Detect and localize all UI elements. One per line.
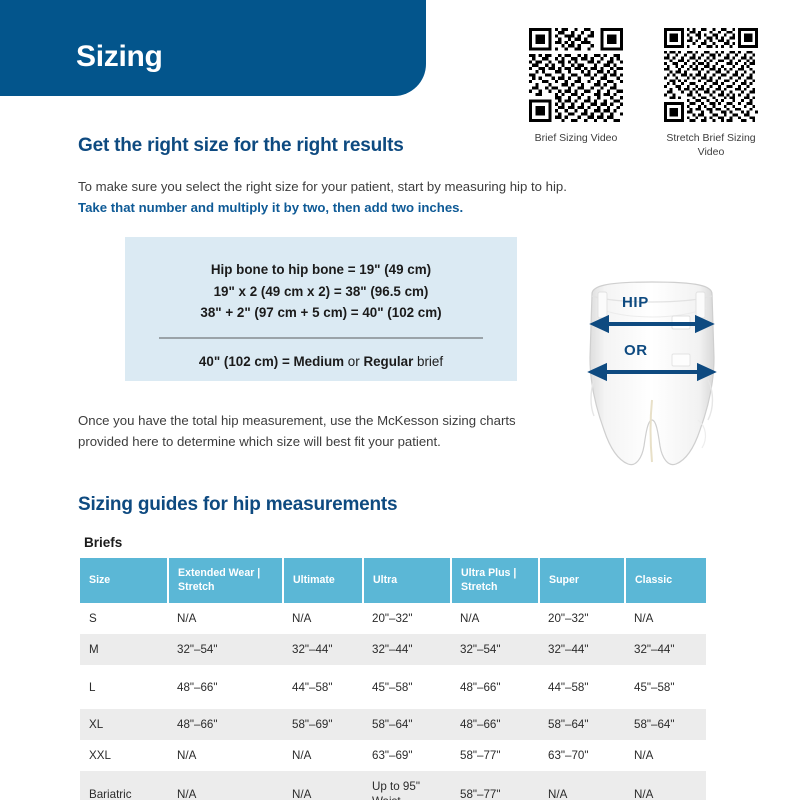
calc-result-size-medium: Medium — [293, 354, 344, 369]
column-header-extended-wear-stretch: Extended Wear | Stretch — [168, 558, 283, 603]
cell-ultra: 45"–58" — [363, 665, 451, 709]
cell-ultra: Up to 95" Waist — [363, 771, 451, 800]
header-banner: Sizing — [0, 0, 426, 96]
column-header-size: Size — [80, 558, 168, 603]
cell-super: 44"–58" — [539, 665, 625, 709]
cell-classic: N/A — [625, 740, 706, 771]
cell-size: L — [80, 665, 168, 709]
calc-divider — [159, 337, 483, 339]
cell-ultra-plus-stretch: 48"–66" — [451, 709, 539, 740]
table-row: XL 48"–66" 58"–69" 58"–64" 48"–66" 58"–6… — [80, 709, 706, 740]
page-title: Sizing — [76, 40, 163, 74]
table-label-briefs: Briefs — [84, 535, 122, 550]
calc-line: 19" x 2 (49 cm x 2) = 38" (96.5 cm) — [125, 281, 517, 303]
cell-ultra-plus-stretch: N/A — [451, 603, 539, 634]
cell-size: M — [80, 634, 168, 665]
cell-super: 20"–32" — [539, 603, 625, 634]
table-row: XXL N/A N/A 63"–69" 58"–77" 63"–70" N/A — [80, 740, 706, 771]
calculation-box: Hip bone to hip bone = 19" (49 cm) 19" x… — [125, 237, 517, 381]
table-row: Bariatric N/A N/A Up to 95" Waist 58"–77… — [80, 771, 706, 800]
table-row: L 48"–66" 44"–58" 45"–58" 48"–66" 44"–58… — [80, 665, 706, 709]
cell-super: 32"–44" — [539, 634, 625, 665]
intro-paragraph: To make sure you select the right size f… — [78, 176, 578, 219]
cell-ultimate: 58"–69" — [283, 709, 363, 740]
cell-ultra: 20"–32" — [363, 603, 451, 634]
intro-text-emphasis: Take that number and multiply it by two,… — [78, 200, 463, 215]
calc-line: Hip bone to hip bone = 19" (49 cm) — [125, 259, 517, 281]
calculation-lines: Hip bone to hip bone = 19" (49 cm) 19" x… — [125, 237, 517, 324]
product-label-hip: HIP — [622, 294, 649, 311]
column-header-ultra: Ultra — [363, 558, 451, 603]
cell-ultra: 58"–64" — [363, 709, 451, 740]
cell-classic: 45"–58" — [625, 665, 706, 709]
cell-extended-wear-stretch: 48"–66" — [168, 665, 283, 709]
table-body: S N/A N/A 20"–32" N/A 20"–32" N/A M 32"–… — [80, 603, 706, 800]
cell-ultra: 32"–44" — [363, 634, 451, 665]
cell-size: S — [80, 603, 168, 634]
cell-classic: N/A — [625, 603, 706, 634]
cell-ultimate: N/A — [283, 740, 363, 771]
table-row: S N/A N/A 20"–32" N/A 20"–32" N/A — [80, 603, 706, 634]
column-header-ultra-plus-stretch: Ultra Plus | Stretch — [451, 558, 539, 603]
cell-size: Bariatric — [80, 771, 168, 800]
cell-super: 63"–70" — [539, 740, 625, 771]
cell-extended-wear-stretch: 48"–66" — [168, 709, 283, 740]
cell-classic: N/A — [625, 771, 706, 800]
calc-result-lead: 40" (102 cm) = — [199, 354, 294, 369]
qr-caption: Stretch Brief Sizing Video — [661, 131, 761, 159]
cell-ultra: 63"–69" — [363, 740, 451, 771]
cell-extended-wear-stretch: N/A — [168, 603, 283, 634]
cell-ultimate: 32"–44" — [283, 634, 363, 665]
cell-super: 58"–64" — [539, 709, 625, 740]
qr-code-icon[interactable] — [529, 28, 623, 122]
cell-ultra-plus-stretch: 58"–77" — [451, 740, 539, 771]
table-row: M 32"–54" 32"–44" 32"–44" 32"–54" 32"–44… — [80, 634, 706, 665]
table-header: Size Extended Wear | Stretch Ultimate Ul… — [80, 558, 706, 603]
cell-extended-wear-stretch: 32"–54" — [168, 634, 283, 665]
calc-line: 38" + 2" (97 cm + 5 cm) = 40" (102 cm) — [125, 302, 517, 324]
qr-block-brief-sizing-video[interactable]: Brief Sizing Video — [529, 28, 626, 145]
column-header-ultimate: Ultimate — [283, 558, 363, 603]
cell-super: N/A — [539, 771, 625, 800]
calc-result-tail: brief — [413, 354, 443, 369]
column-header-super: Super — [539, 558, 625, 603]
qr-block-stretch-brief-sizing-video[interactable]: Stretch Brief Sizing Video — [664, 28, 761, 159]
calc-result-size-regular: Regular — [363, 354, 413, 369]
cell-size: XL — [80, 709, 168, 740]
table-header-row: Size Extended Wear | Stretch Ultimate Ul… — [80, 558, 706, 603]
sizing-guide-page: Sizing — [0, 0, 800, 800]
closing-paragraph: Once you have the total hip measurement,… — [78, 410, 558, 453]
section-heading-right-size: Get the right size for the right results — [78, 135, 404, 157]
sizing-table-briefs: Size Extended Wear | Stretch Ultimate Ul… — [80, 558, 706, 800]
cell-classic: 58"–64" — [625, 709, 706, 740]
cell-ultimate: 44"–58" — [283, 665, 363, 709]
brief-product-icon — [568, 280, 736, 470]
qr-caption: Brief Sizing Video — [526, 131, 626, 145]
intro-text-normal: To make sure you select the right size f… — [78, 179, 567, 194]
cell-extended-wear-stretch: N/A — [168, 740, 283, 771]
calc-result-joiner: or — [344, 354, 363, 369]
cell-classic: 32"–44" — [625, 634, 706, 665]
cell-ultra-plus-stretch: 48"–66" — [451, 665, 539, 709]
qr-code-icon[interactable] — [664, 28, 758, 122]
product-illustration: HIP OR — [568, 280, 736, 470]
cell-ultra-plus-stretch: 58"–77" — [451, 771, 539, 800]
cell-size: XXL — [80, 740, 168, 771]
cell-extended-wear-stretch: N/A — [168, 771, 283, 800]
cell-ultra-plus-stretch: 32"–54" — [451, 634, 539, 665]
cell-ultimate: N/A — [283, 771, 363, 800]
section-heading-sizing-guides: Sizing guides for hip measurements — [78, 494, 397, 516]
calculation-result: 40" (102 cm) = Medium or Regular brief — [125, 354, 517, 369]
product-label-or: OR — [624, 342, 648, 359]
cell-ultimate: N/A — [283, 603, 363, 634]
column-header-classic: Classic — [625, 558, 706, 603]
